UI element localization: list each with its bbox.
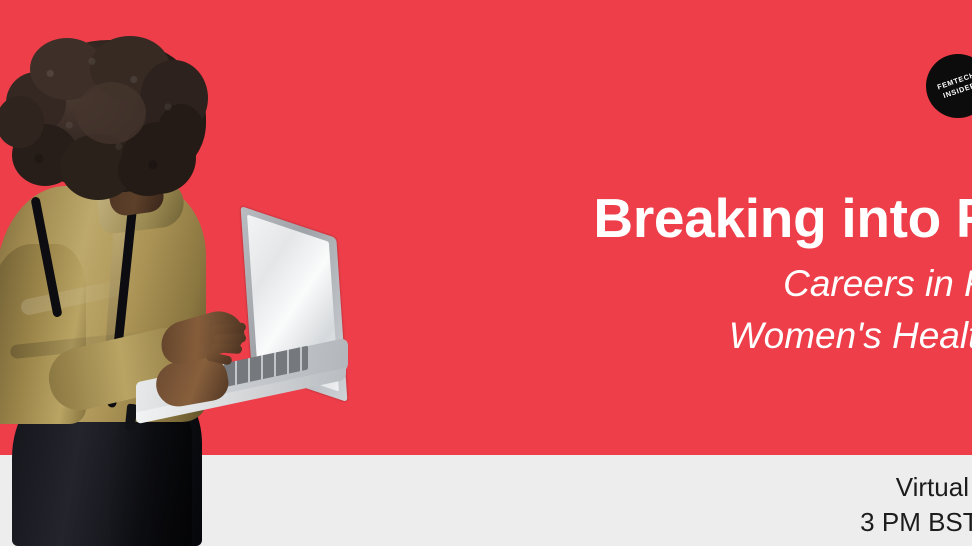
event-subtitle-line-1: Careers in Femtech and (420, 258, 972, 311)
event-subtitle-line-2: Women's Health Innovation (420, 310, 972, 363)
femtech-insider-logo[interactable]: FEMTECH INSIDER (926, 54, 972, 118)
headline-block: Breaking into Femtech Careers in Femtech… (300, 188, 972, 363)
event-date-line: Virtual Event - 26 June 2 (420, 470, 972, 505)
afro-hair-texture (16, 40, 206, 192)
event-title: Breaking into Femtech (420, 188, 972, 250)
trousers-shadow-shape (110, 410, 192, 546)
event-time-line: 3 PM BST / 9 AM ET / 6 AM (420, 505, 972, 540)
webinar-promo-banner: Breaking into Femtech Careers in Femtech… (0, 0, 972, 546)
logo-text-wrap: FEMTECH INSIDER (926, 54, 972, 118)
finger-shape (214, 333, 246, 343)
event-details-block: Virtual Event - 26 June 2 3 PM BST / 9 A… (420, 470, 972, 540)
